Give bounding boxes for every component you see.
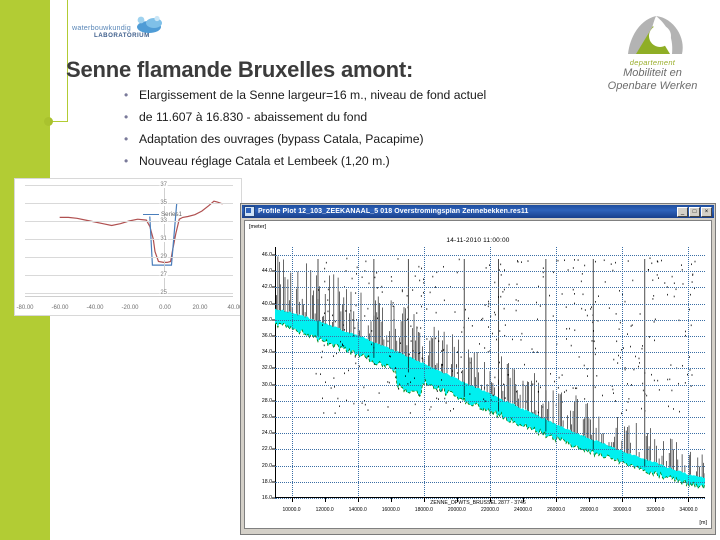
section-dot — [553, 315, 554, 317]
section-dot — [438, 340, 439, 342]
section-dot — [355, 292, 356, 294]
section-dot — [626, 409, 627, 411]
section-dot — [516, 310, 517, 312]
gridline-vertical — [622, 247, 623, 498]
y-tick-label: 37 — [159, 182, 168, 188]
section-dot — [323, 412, 324, 414]
section-dot — [364, 387, 365, 389]
section-dot — [342, 344, 343, 346]
section-dot — [674, 282, 675, 284]
section-dot — [632, 280, 633, 282]
section-dot — [695, 261, 696, 263]
section-dot — [420, 327, 421, 329]
section-dot — [321, 357, 322, 359]
section-dot — [500, 264, 501, 266]
list-item: • de 11.607 à 16.830 - abaissement du fo… — [122, 106, 582, 128]
section-dot — [508, 374, 509, 376]
section-dot — [347, 258, 348, 260]
section-dot — [504, 308, 505, 310]
section-dot — [617, 362, 618, 364]
series-line — [60, 201, 223, 262]
cross-section-x-axis-line — [25, 296, 233, 297]
x-tick — [424, 498, 425, 502]
section-dot — [646, 395, 647, 397]
section-dot — [430, 292, 431, 294]
section-dot — [668, 406, 669, 408]
section-dot — [627, 333, 628, 335]
section-dot — [375, 277, 376, 279]
section-dot — [362, 402, 363, 404]
section-dot — [484, 387, 485, 389]
section-dot — [605, 281, 606, 283]
section-dot — [631, 325, 632, 327]
x-tick — [622, 498, 623, 502]
section-dot — [674, 296, 675, 298]
mow-line-2: Openbare Werken — [590, 80, 715, 93]
x-tick — [556, 498, 557, 502]
section-dot — [456, 364, 457, 366]
section-dot — [444, 300, 445, 302]
section-dot — [324, 312, 325, 314]
section-dot — [578, 259, 579, 261]
section-dot — [470, 362, 471, 364]
section-dot — [573, 267, 574, 269]
section-dot — [324, 345, 325, 347]
section-dot — [613, 359, 614, 361]
section-dot — [503, 291, 504, 293]
section-dot — [442, 390, 443, 392]
x-tick-label: -40.00 — [86, 305, 103, 311]
x-tick — [589, 498, 590, 502]
section-dot — [470, 393, 471, 395]
section-dot — [488, 326, 489, 328]
cross-section-plot-area: 25272931333537 Series1 — [25, 185, 233, 293]
section-dot — [667, 294, 668, 296]
section-dot — [350, 310, 351, 312]
window-buttons: _ □ × — [677, 207, 712, 217]
section-dot — [562, 374, 563, 376]
x-tick — [358, 498, 359, 502]
section-dot — [328, 311, 329, 313]
section-dot — [676, 288, 677, 290]
section-dot — [619, 290, 620, 292]
section-dot — [521, 261, 522, 263]
section-dot — [402, 291, 403, 293]
section-dot — [653, 295, 654, 297]
bullet-icon: • — [124, 150, 128, 172]
y-tick-label: 30.0 — [262, 382, 272, 388]
section-dot — [426, 308, 427, 310]
section-dot — [550, 373, 551, 375]
section-dot — [639, 362, 640, 364]
y-tick-label: 29 — [159, 254, 168, 260]
section-dot — [483, 398, 484, 400]
section-dot — [571, 345, 572, 347]
window-title: Profile Plot 12_103_ZEEKANAAL_5 018 Over… — [258, 208, 677, 215]
section-dot — [604, 259, 605, 261]
section-dot — [591, 306, 592, 308]
accent-dot — [44, 117, 53, 126]
section-dot — [517, 283, 518, 285]
section-dot — [407, 295, 408, 297]
section-dot — [338, 398, 339, 400]
section-dot — [538, 412, 539, 414]
section-dot — [692, 274, 693, 276]
x-tick-label: 18000.0 — [415, 507, 433, 513]
section-dot — [641, 408, 642, 410]
section-dot — [673, 408, 674, 410]
section-dot — [410, 412, 411, 414]
section-dot — [377, 317, 378, 319]
section-dot — [333, 355, 334, 357]
section-dot — [324, 281, 325, 283]
section-dot — [516, 391, 517, 393]
profile-y-axis: 46.044.042.040.038.036.034.032.030.028.0… — [245, 247, 275, 498]
x-tick — [457, 498, 458, 502]
list-item-label: de 11.607 à 16.830 - abaissement du fond — [139, 110, 367, 124]
section-dot — [411, 340, 412, 342]
section-dot — [405, 375, 406, 377]
section-dot — [650, 257, 651, 259]
section-dot — [618, 355, 619, 357]
section-dot — [576, 387, 577, 389]
section-dot — [616, 340, 617, 342]
section-dot — [432, 276, 433, 278]
section-dot — [690, 294, 691, 296]
section-dot — [619, 328, 620, 330]
x-tick-label: 16000.0 — [382, 507, 400, 513]
maximize-button[interactable]: □ — [689, 207, 700, 217]
section-dot — [488, 301, 489, 303]
section-dot — [387, 381, 388, 383]
section-dot — [598, 295, 599, 297]
section-dot — [654, 340, 655, 342]
section-dot — [652, 279, 653, 281]
y-tick-label: 31 — [159, 236, 168, 242]
section-dot — [536, 381, 537, 383]
page-title: Senne flamande Bruxelles amont: — [66, 57, 586, 83]
y-tick-label: 44.0 — [262, 268, 272, 274]
x-axis-unit-label: [m] — [699, 520, 707, 526]
section-dot — [488, 306, 489, 308]
section-dot — [461, 371, 462, 373]
section-dot — [683, 283, 684, 285]
section-dot — [368, 355, 369, 357]
x-tick-label: -20.00 — [121, 305, 138, 311]
gridline-vertical — [490, 247, 491, 498]
section-dot — [590, 308, 591, 310]
bullet-list: • Elargissement de la Senne largeur=16 m… — [122, 84, 582, 172]
profile-plot-area — [275, 247, 705, 498]
section-dot — [659, 389, 660, 391]
y-tick-label: 36.0 — [262, 333, 272, 339]
section-dot — [436, 312, 437, 314]
section-dot — [371, 344, 372, 346]
section-dot — [532, 348, 533, 350]
section-dot — [611, 263, 612, 265]
section-dot — [328, 289, 329, 291]
y-tick-label: 18.0 — [262, 479, 272, 485]
section-dot — [654, 380, 655, 382]
section-dot — [327, 299, 328, 301]
profile-plot-canvas[interactable]: [meter] [m] 14-11-2010 11:00:00 46.044.0… — [244, 220, 712, 529]
section-dot — [596, 375, 597, 377]
section-dot — [355, 327, 356, 329]
section-dot — [642, 345, 643, 347]
section-dot — [368, 308, 369, 310]
section-dot — [522, 333, 523, 335]
section-dot — [661, 260, 662, 262]
section-dot — [505, 324, 506, 326]
x-tick-label: 14000.0 — [349, 507, 367, 513]
window-title-bar[interactable]: Profile Plot 12_103_ZEEKANAAL_5 018 Over… — [242, 205, 714, 218]
section-dot — [595, 301, 596, 303]
section-dot — [326, 262, 327, 264]
x-tick-label: 0.00 — [159, 305, 171, 311]
section-dot — [500, 296, 501, 298]
section-dot — [388, 406, 389, 408]
x-tick-label: 32000.0 — [646, 507, 664, 513]
gridline-vertical — [556, 247, 557, 498]
x-tick-label: 34000.0 — [679, 507, 697, 513]
section-dot — [472, 325, 473, 327]
bullet-icon: • — [124, 106, 128, 128]
section-dot — [421, 268, 422, 270]
gridline-vertical — [688, 247, 689, 498]
legend-swatch — [143, 214, 159, 215]
section-dot — [625, 301, 626, 303]
section-dot — [322, 324, 323, 326]
triangle-swoosh-icon — [616, 10, 690, 60]
section-dot — [499, 330, 500, 332]
section-dot — [558, 260, 559, 262]
section-dot — [409, 354, 410, 356]
section-dot — [400, 342, 401, 344]
section-dot — [414, 377, 415, 379]
section-dot — [457, 372, 458, 374]
section-dot — [573, 387, 574, 389]
section-dot — [653, 298, 654, 300]
section-dot — [455, 311, 456, 313]
x-tick-label: 24000.0 — [514, 507, 532, 513]
water-droplet-icon — [132, 14, 166, 36]
section-dot — [579, 356, 580, 358]
section-dot — [632, 324, 633, 326]
section-dot — [538, 391, 539, 393]
section-dot — [585, 309, 586, 311]
section-dot — [639, 358, 640, 360]
section-dot — [549, 295, 550, 297]
section-dot — [671, 364, 672, 366]
section-dot — [558, 387, 559, 389]
section-dot — [516, 299, 517, 301]
section-dot — [595, 348, 596, 350]
section-dot — [415, 404, 416, 406]
y-tick-label: 46.0 — [262, 252, 272, 258]
section-dot — [419, 280, 420, 282]
section-dot — [669, 379, 670, 381]
x-tick — [655, 498, 656, 502]
section-dot — [415, 275, 416, 277]
x-tick-label: -60.00 — [51, 305, 68, 311]
slide: waterbouwkundig LABORATORIUM departement… — [0, 0, 720, 540]
section-dot — [638, 366, 639, 368]
section-dot — [595, 386, 596, 388]
section-dot — [581, 308, 582, 310]
section-dot — [575, 387, 576, 389]
section-dot — [494, 312, 495, 314]
section-dot — [512, 339, 513, 341]
plot-timestamp: 14-11-2010 11:00:00 — [245, 237, 711, 244]
section-dot — [682, 365, 683, 367]
x-tick-label: 12000.0 — [316, 507, 334, 513]
section-dot — [620, 357, 621, 359]
section-dot — [651, 262, 652, 264]
y-tick-label: 34.0 — [262, 349, 272, 355]
list-item: • Adaptation des ouvrages (bypass Catala… — [122, 128, 582, 150]
section-dot — [371, 330, 372, 332]
section-dot — [630, 346, 631, 348]
section-dot — [461, 356, 462, 358]
section-dot — [574, 259, 575, 261]
section-dot — [504, 289, 505, 291]
close-button[interactable]: × — [701, 207, 712, 217]
section-dot — [501, 274, 502, 276]
section-dot — [495, 314, 496, 316]
section-dot — [505, 397, 506, 399]
section-dot — [566, 328, 567, 330]
section-dot — [331, 387, 332, 389]
section-dot — [672, 390, 673, 392]
section-dot — [343, 324, 344, 326]
gridline-vertical — [424, 247, 425, 498]
section-dot — [496, 339, 497, 341]
section-dot — [456, 366, 457, 368]
gridline — [25, 203, 233, 204]
section-dot — [574, 293, 575, 295]
section-dot — [391, 276, 392, 278]
section-dot — [584, 398, 585, 400]
section-dot — [393, 305, 394, 307]
section-dot — [465, 309, 466, 311]
section-dot — [442, 364, 443, 366]
y-tick-label: 42.0 — [262, 284, 272, 290]
section-dot — [325, 381, 326, 383]
section-dot — [437, 390, 438, 392]
section-dot — [681, 264, 682, 266]
section-dot — [395, 377, 396, 379]
section-dot — [533, 412, 534, 414]
section-dot — [335, 412, 336, 414]
section-dot — [438, 398, 439, 400]
section-dot — [411, 325, 412, 327]
y-tick-label: 16.0 — [262, 495, 272, 501]
section-dot — [366, 261, 367, 263]
section-dot — [389, 382, 390, 384]
gridline — [25, 239, 233, 240]
section-dot — [450, 410, 451, 412]
section-dot — [390, 356, 391, 358]
section-dot — [685, 382, 686, 384]
section-dot — [566, 390, 567, 392]
section-dot — [493, 395, 494, 397]
y-tick-label: 28.0 — [262, 398, 272, 404]
list-item-label: Nouveau réglage Catala et Lembeek (1,20 … — [139, 154, 390, 168]
section-dot — [441, 379, 442, 381]
section-dot — [419, 394, 420, 396]
section-dot — [543, 276, 544, 278]
minimize-button[interactable]: _ — [677, 207, 688, 217]
section-dot — [391, 280, 392, 282]
section-dot — [446, 402, 447, 404]
section-dot — [582, 273, 583, 275]
section-dot — [629, 398, 630, 400]
section-dot — [398, 258, 399, 260]
section-dot — [521, 339, 522, 341]
section-dot — [620, 322, 621, 324]
section-dot — [543, 267, 544, 269]
gridline — [25, 275, 233, 276]
profile-plot-window[interactable]: Profile Plot 12_103_ZEEKANAAL_5 018 Over… — [240, 203, 716, 535]
section-dot — [444, 349, 445, 351]
section-dot — [459, 259, 460, 261]
section-dot — [389, 355, 390, 357]
section-dot — [584, 265, 585, 267]
section-dot — [343, 345, 344, 347]
application-icon — [244, 206, 255, 217]
section-dot — [518, 300, 519, 302]
section-dot — [366, 358, 367, 360]
section-dot — [594, 340, 595, 342]
section-dot — [587, 315, 588, 317]
section-dot — [362, 276, 363, 278]
legend-label: Series1 — [161, 211, 182, 218]
section-dot — [657, 274, 658, 276]
section-dot — [352, 278, 353, 280]
section-dot — [462, 370, 463, 372]
section-dot — [642, 348, 643, 350]
section-dot — [461, 331, 462, 333]
section-dot — [453, 408, 454, 410]
x-tick — [325, 498, 326, 502]
section-dot — [595, 354, 596, 356]
section-dot — [602, 395, 603, 397]
section-dot — [540, 387, 541, 389]
bullet-icon: • — [124, 84, 128, 106]
gridline-vertical — [358, 247, 359, 498]
section-dot — [592, 340, 593, 342]
section-dot — [398, 388, 399, 390]
y-tick-label: 40.0 — [262, 301, 272, 307]
section-dot — [664, 282, 665, 284]
section-dot — [359, 366, 360, 368]
x-tick — [523, 498, 524, 502]
y-axis-unit-label: [meter] — [249, 224, 266, 230]
section-dot — [524, 364, 525, 366]
section-dot — [635, 356, 636, 358]
section-dot — [410, 381, 411, 383]
cross-section-legend: Series1 — [143, 211, 182, 218]
bullet-icon: • — [124, 128, 128, 150]
section-dot — [382, 291, 383, 293]
section-dot — [316, 373, 317, 375]
y-tick-label: 26.0 — [262, 414, 272, 420]
section-dot — [320, 373, 321, 375]
section-dot — [355, 356, 356, 358]
section-dot — [379, 392, 380, 394]
section-dot — [429, 409, 430, 411]
y-tick-label: 22.0 — [262, 446, 272, 452]
